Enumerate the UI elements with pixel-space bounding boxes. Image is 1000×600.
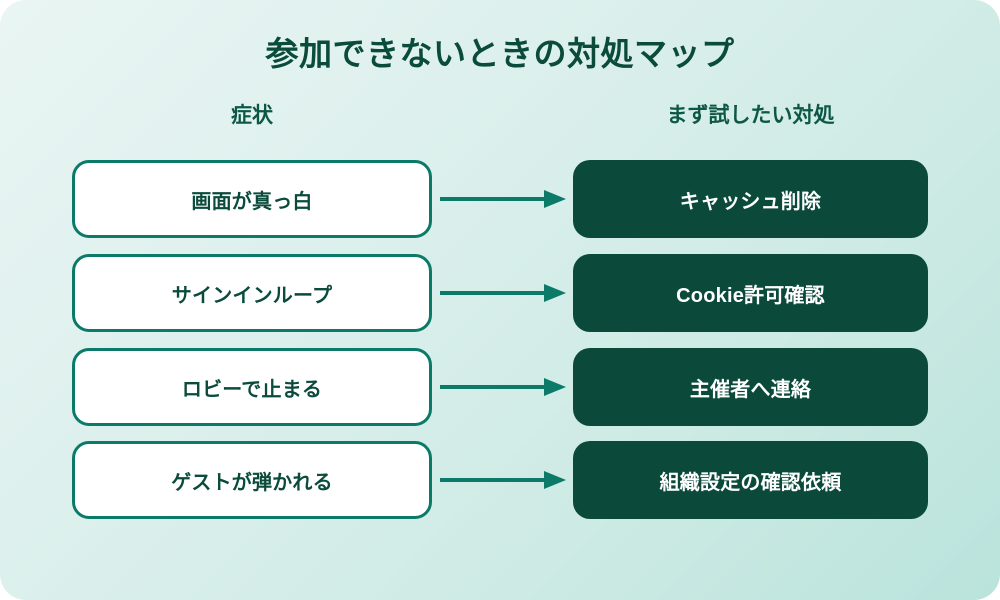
column-header-fix: まず試したい対処 — [573, 99, 928, 129]
mapping-row: ゲストが弾かれる 組織設定の確認依頼 — [0, 441, 1000, 519]
symptom-label: サインインループ — [172, 279, 332, 308]
symptom-label: ゲストが弾かれる — [171, 466, 333, 495]
fix-label: 主催者へ連絡 — [690, 373, 811, 402]
arrow-right-icon — [438, 468, 568, 492]
fix-box[interactable]: 組織設定の確認依頼 — [573, 441, 928, 519]
symptom-box[interactable]: ゲストが弾かれる — [72, 441, 432, 519]
fix-label: キャッシュ削除 — [680, 185, 821, 214]
symptom-label: 画面が真っ白 — [191, 185, 312, 214]
page-title: 参加できないときの対処マップ — [0, 27, 1000, 75]
fix-label: 組織設定の確認依頼 — [660, 466, 842, 495]
symptom-box[interactable]: 画面が真っ白 — [72, 160, 432, 238]
symptom-box[interactable]: ロビーで止まる — [72, 348, 432, 426]
symptom-box[interactable]: サインインループ — [72, 254, 432, 332]
arrow-right-icon — [438, 187, 568, 211]
fix-box[interactable]: キャッシュ削除 — [573, 160, 928, 238]
arrow-right-icon — [438, 281, 568, 305]
diagram-canvas: 参加できないときの対処マップ 症状 まず試したい対処 画面が真っ白 キャッシュ削… — [0, 0, 1000, 600]
mapping-row: サインインループ Cookie許可確認 — [0, 254, 1000, 332]
arrow-right-icon — [438, 375, 568, 399]
fix-label: Cookie許可確認 — [676, 279, 825, 308]
mapping-row: 画面が真っ白 キャッシュ削除 — [0, 160, 1000, 238]
column-header-symptom: 症状 — [72, 99, 432, 129]
mapping-row: ロビーで止まる 主催者へ連絡 — [0, 348, 1000, 426]
fix-box[interactable]: Cookie許可確認 — [573, 254, 928, 332]
symptom-label: ロビーで止まる — [182, 373, 322, 402]
fix-box[interactable]: 主催者へ連絡 — [573, 348, 928, 426]
